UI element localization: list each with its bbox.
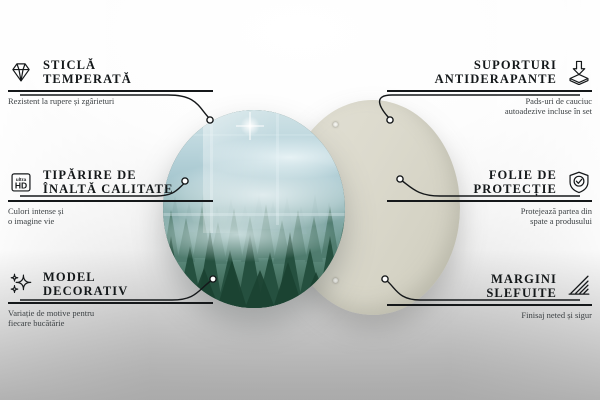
feature-heading: MARGINI SLEFUITE <box>387 272 592 300</box>
feature-heading: FOLIE DE PROTECȚIE <box>387 168 592 196</box>
divider <box>387 200 592 202</box>
feature-subtitle: Variație de motive pentru fiecare bucătă… <box>8 308 213 329</box>
feature-title: SUPORTURI ANTIDERAPANTE <box>435 58 557 86</box>
feature-folie-de-protectie: FOLIE DE PROTECȚIE Protejează partea din… <box>387 168 592 227</box>
divider <box>8 200 213 202</box>
feature-tiparire-de-inalta-calitate: ultra HD TIPĂRIRE DE ÎNALTĂ CALITATE Cul… <box>8 168 213 227</box>
feature-title: STICLĂ TEMPERATĂ <box>43 58 132 86</box>
arrow-into-pads-icon <box>566 59 592 85</box>
diamond-icon <box>8 59 34 85</box>
divider <box>8 90 213 92</box>
feature-model-decorativ: MODEL DECORATIV Variație de motive pentr… <box>8 270 213 329</box>
feature-heading: STICLĂ TEMPERATĂ <box>8 58 213 86</box>
feature-title: FOLIE DE PROTECȚIE <box>473 168 557 196</box>
divider <box>387 90 592 92</box>
feature-sticla-temperata: STICLĂ TEMPERATĂ Rezistent la rupere și … <box>8 58 213 106</box>
feature-heading: SUPORTURI ANTIDERAPANTE <box>387 58 592 86</box>
feature-title: TIPĂRIRE DE ÎNALTĂ CALITATE <box>43 168 174 196</box>
feature-subtitle: Pads-uri de cauciuc autoadezive incluse … <box>387 96 592 117</box>
feature-subtitle: Finisaj neted și sigur <box>387 310 592 321</box>
feature-subtitle: Protejează partea din spate a produsului <box>387 206 592 227</box>
feature-title: MARGINI SLEFUITE <box>486 272 557 300</box>
divider <box>8 302 213 304</box>
divider <box>387 304 592 306</box>
ultra-hd-icon-large-text: HD <box>15 181 27 191</box>
feature-heading: ultra HD TIPĂRIRE DE ÎNALTĂ CALITATE <box>8 168 213 196</box>
polished-edge-icon <box>566 273 592 299</box>
feature-subtitle: Culori intense și o imagine vie <box>8 206 213 227</box>
ultra-hd-icon: ultra HD <box>8 169 34 195</box>
feature-subtitle: Rezistent la rupere și zgârieturi <box>8 96 213 107</box>
feature-heading: MODEL DECORATIV <box>8 270 213 298</box>
glass-sparkle-icon <box>236 112 264 140</box>
feature-margini-slefuite: MARGINI SLEFUITE Finisaj neted și sigur <box>387 272 592 320</box>
shield-check-icon <box>566 169 592 195</box>
feature-title: MODEL DECORATIV <box>43 270 128 298</box>
sparkles-icon <box>8 271 34 297</box>
infographic-canvas: STICLĂ TEMPERATĂ Rezistent la rupere și … <box>0 0 600 400</box>
feature-suporturi-antiderapante: SUPORTURI ANTIDERAPANTE Pads-uri de cauc… <box>387 58 592 117</box>
